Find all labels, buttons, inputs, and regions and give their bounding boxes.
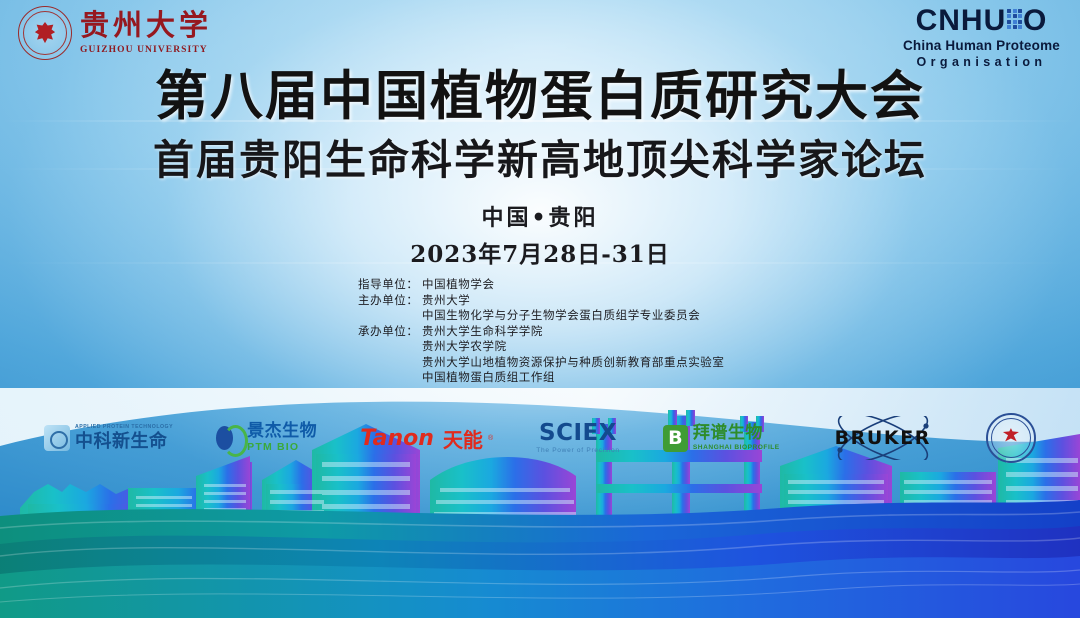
- sponsor-tanon: Tanon 天能 ®: [360, 424, 493, 453]
- sponsor-shanghai-bioprofile: B 拜谱生物 SHANGHAI BIOPROFILE: [663, 425, 780, 452]
- tanon-name-cn: 天能: [443, 424, 483, 453]
- guizhou-university-seal-icon: [18, 6, 72, 60]
- sponsor-logo-strip: APPLIED PROTEIN TECHNOLOGY 中科新生命 景杰生物 PT…: [0, 408, 1080, 468]
- university-name-cn: 贵州大学: [80, 12, 212, 41]
- apt-tagline: APPLIED PROTEIN TECHNOLOGY: [75, 425, 173, 430]
- poster-main-title: 第八届中国植物蛋白质研究大会: [0, 70, 1080, 123]
- cnhupo-wordmark: CNHU O: [903, 6, 1060, 36]
- bioprofile-name-cn: 拜谱生物: [693, 425, 780, 442]
- sponsor-applied-protein-technology: APPLIED PROTEIN TECHNOLOGY 中科新生命: [44, 425, 173, 451]
- organizer-row: 主办单位： 贵州大学: [358, 293, 725, 309]
- sponsor-ptm-bio: 景杰生物 PTM BIO: [216, 423, 317, 453]
- cnhupo-subtitle-1: China Human Proteome: [903, 38, 1060, 53]
- organizer-value: 中国植物学会: [422, 277, 495, 293]
- apt-name-cn: 中科新生命: [75, 433, 173, 451]
- cnhupo-subtitle-2: Organisation: [903, 55, 1060, 69]
- poster-subtitle: 首届贵阳生命科学新高地顶尖科学家论坛: [0, 140, 1080, 181]
- cnhupo-pixel-icon: [1007, 9, 1022, 29]
- bruker-name-en: BRUKER: [835, 427, 931, 449]
- organizer-label: 承办单位：: [358, 324, 422, 340]
- ptm-bio-logo-icon: [216, 425, 242, 451]
- organizer-row: 中国生物化学与分子生物学会蛋白质组学专业委员会: [358, 308, 725, 324]
- organizer-list: 指导单位： 中国植物学会 主办单位： 贵州大学 中国生物化学与分子生物学会蛋白质…: [358, 277, 725, 386]
- sponsor-bruker: BRUKER: [823, 416, 943, 460]
- sponsor-chinese-plant-society-seal: [986, 413, 1036, 463]
- event-location: 中国•贵阳: [0, 200, 1080, 232]
- organizer-value: 贵州大学农学院: [422, 339, 507, 355]
- registered-trademark-icon: ®: [488, 435, 493, 442]
- sponsor-sciex: SCIEX The Power of Precision: [536, 422, 620, 455]
- university-name-en: GUIZHOU UNIVERSITY: [80, 45, 212, 55]
- organizer-value: 贵州大学山地植物资源保护与种质创新教育部重点实验室: [422, 355, 725, 371]
- cnhupo-text-right: O: [1023, 6, 1047, 36]
- organizer-row: 贵州大学山地植物资源保护与种质创新教育部重点实验室: [358, 355, 725, 371]
- sciex-tagline: The Power of Precision: [536, 448, 620, 455]
- organizer-label: 主办单位：: [358, 293, 422, 309]
- ptm-bio-name-cn: 景杰生物: [247, 423, 317, 440]
- seal-emblem-icon: [1003, 428, 1019, 446]
- bioprofile-logo-icon: B: [663, 425, 688, 452]
- organizer-value: 贵州大学生命科学学院: [422, 324, 543, 340]
- event-date: 2023年7月28日-31日: [0, 235, 1080, 269]
- organizer-row: 贵州大学农学院: [358, 339, 725, 355]
- organizer-value: 中国植物蛋白质组工作组: [422, 370, 555, 386]
- organizer-row: 指导单位： 中国植物学会: [358, 277, 725, 293]
- organizer-row: 承办单位： 贵州大学生命科学学院: [358, 324, 725, 340]
- tanon-name-en: Tanon: [360, 426, 434, 451]
- conference-poster: 贵州大学 GUIZHOU UNIVERSITY CNHU O China Hum…: [0, 0, 1080, 618]
- apt-logo-icon: [44, 425, 70, 451]
- organizer-label: 指导单位：: [358, 277, 422, 293]
- ptm-bio-name-en: PTM BIO: [247, 442, 317, 453]
- bioprofile-name-en: SHANGHAI BIOPROFILE: [693, 445, 780, 452]
- organizer-value: 贵州大学: [422, 293, 470, 309]
- guizhou-university-logo: 贵州大学 GUIZHOU UNIVERSITY: [18, 6, 212, 60]
- cnhupo-text-left: CNHU: [916, 6, 1007, 36]
- sciex-name-en: SCIEX: [539, 422, 617, 445]
- cnhupo-logo: CNHU O China Human Proteome Organisation: [903, 6, 1060, 69]
- organizer-row: 中国植物蛋白质组工作组: [358, 370, 725, 386]
- organizer-value: 中国生物化学与分子生物学会蛋白质组学专业委员会: [422, 308, 700, 324]
